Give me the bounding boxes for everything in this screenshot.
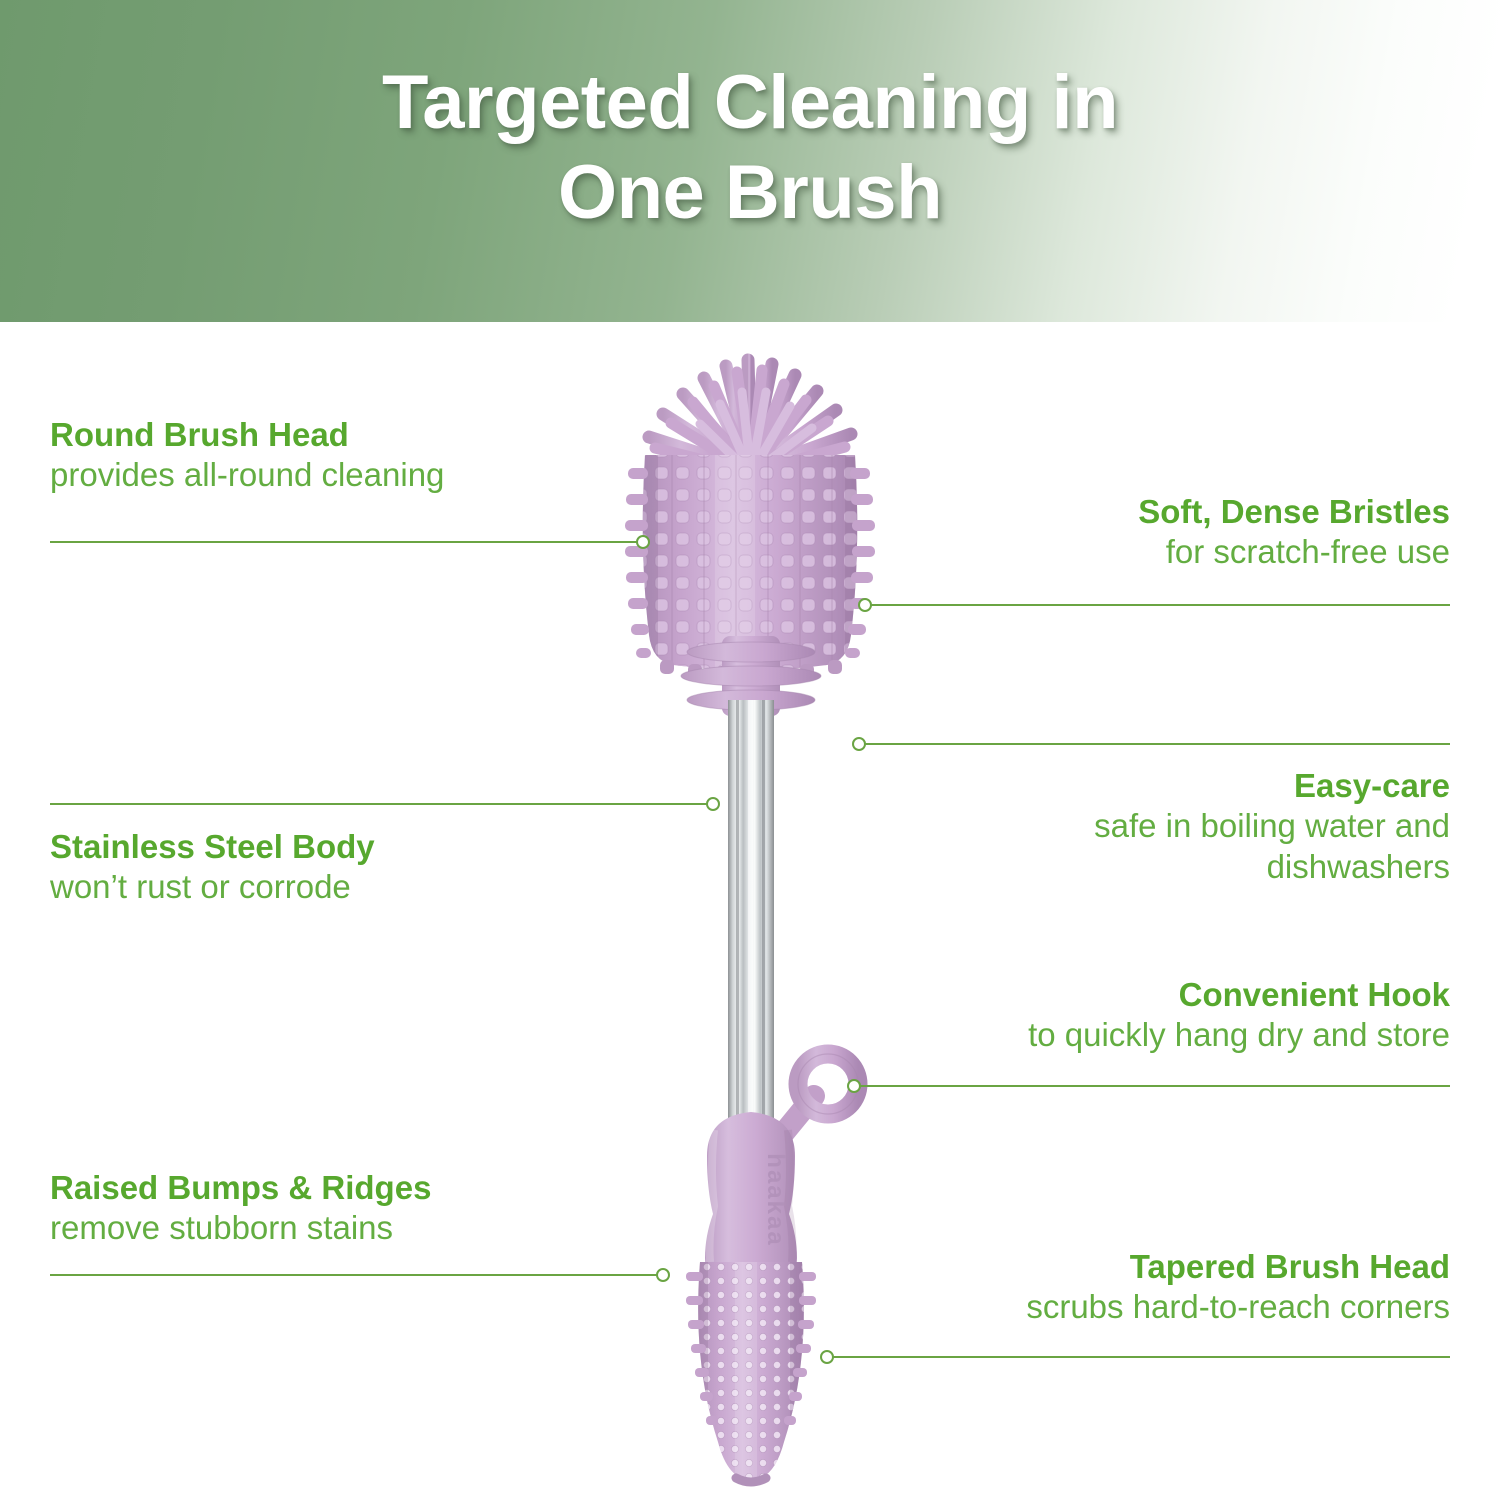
leader-endpoint-dot bbox=[847, 1079, 861, 1093]
leader-endpoint-dot bbox=[858, 598, 872, 612]
callout-title: Stainless Steel Body bbox=[50, 827, 690, 867]
callout-title: Easy-care bbox=[750, 766, 1450, 806]
callout-stainless-steel-body: Stainless Steel Body won’t rust or corro… bbox=[50, 827, 690, 908]
leader-line-soft-dense-bristles bbox=[858, 596, 1450, 614]
leader-endpoint-dot bbox=[656, 1268, 670, 1282]
stainless-steel-rod bbox=[728, 700, 774, 1120]
leader-bar bbox=[871, 604, 1450, 606]
leader-bar bbox=[865, 743, 1450, 745]
callout-raised-bumps-ridges: Raised Bumps & Ridges remove stubborn st… bbox=[50, 1168, 690, 1249]
leader-line-tapered-brush-head bbox=[820, 1348, 1450, 1366]
page-title: Targeted Cleaning in One Brush bbox=[0, 58, 1500, 237]
leader-bar bbox=[50, 1274, 657, 1276]
leader-bar bbox=[833, 1356, 1450, 1358]
callout-round-brush-head: Round Brush Head provides all-round clea… bbox=[50, 415, 650, 496]
callout-subtitle: provides all-round cleaning bbox=[50, 455, 650, 496]
callout-subtitle: for scratch-free use bbox=[750, 532, 1450, 573]
leader-line-easy-care bbox=[852, 735, 1450, 753]
left-nubs bbox=[625, 468, 651, 658]
leader-endpoint-dot bbox=[852, 737, 866, 751]
callout-subtitle: to quickly hang dry and store bbox=[730, 1015, 1450, 1056]
ribbed-collar bbox=[681, 636, 821, 716]
callout-subtitle: remove stubborn stains bbox=[50, 1208, 690, 1249]
callout-title: Tapered Brush Head bbox=[710, 1247, 1450, 1287]
round-brush-top-bristles bbox=[649, 360, 851, 474]
brand-emboss: haakaa bbox=[762, 1153, 789, 1246]
leader-line-round-brush-head bbox=[50, 533, 650, 551]
callout-subtitle: won’t rust or corrode bbox=[50, 867, 690, 908]
leader-bar bbox=[50, 803, 707, 805]
leader-line-raised-bumps-ridges bbox=[50, 1266, 670, 1284]
leader-bar bbox=[860, 1085, 1450, 1087]
callout-title: Raised Bumps & Ridges bbox=[50, 1168, 690, 1208]
infographic-page: Targeted Cleaning in One Brush bbox=[0, 0, 1500, 1500]
callout-tapered-brush-head: Tapered Brush Head scrubs hard-to-reach … bbox=[710, 1247, 1450, 1328]
callout-convenient-hook: Convenient Hook to quickly hang dry and … bbox=[730, 975, 1450, 1056]
leader-endpoint-dot bbox=[820, 1350, 834, 1364]
header-banner: Targeted Cleaning in One Brush bbox=[0, 0, 1500, 322]
callout-title: Convenient Hook bbox=[730, 975, 1450, 1015]
callout-title: Soft, Dense Bristles bbox=[750, 492, 1450, 532]
callout-soft-dense-bristles: Soft, Dense Bristles for scratch-free us… bbox=[750, 492, 1450, 573]
callout-subtitle: safe in boiling water and dishwashers bbox=[750, 806, 1450, 888]
leader-bar bbox=[50, 541, 637, 543]
callout-subtitle: scrubs hard-to-reach corners bbox=[710, 1287, 1450, 1328]
leader-endpoint-dot bbox=[636, 535, 650, 549]
leader-endpoint-dot bbox=[706, 797, 720, 811]
callout-title: Round Brush Head bbox=[50, 415, 650, 455]
leader-line-stainless-steel-body bbox=[50, 795, 720, 813]
hook-ring bbox=[778, 1054, 858, 1140]
callout-easy-care: Easy-care safe in boiling water and dish… bbox=[750, 766, 1450, 888]
leader-line-convenient-hook bbox=[847, 1077, 1450, 1095]
